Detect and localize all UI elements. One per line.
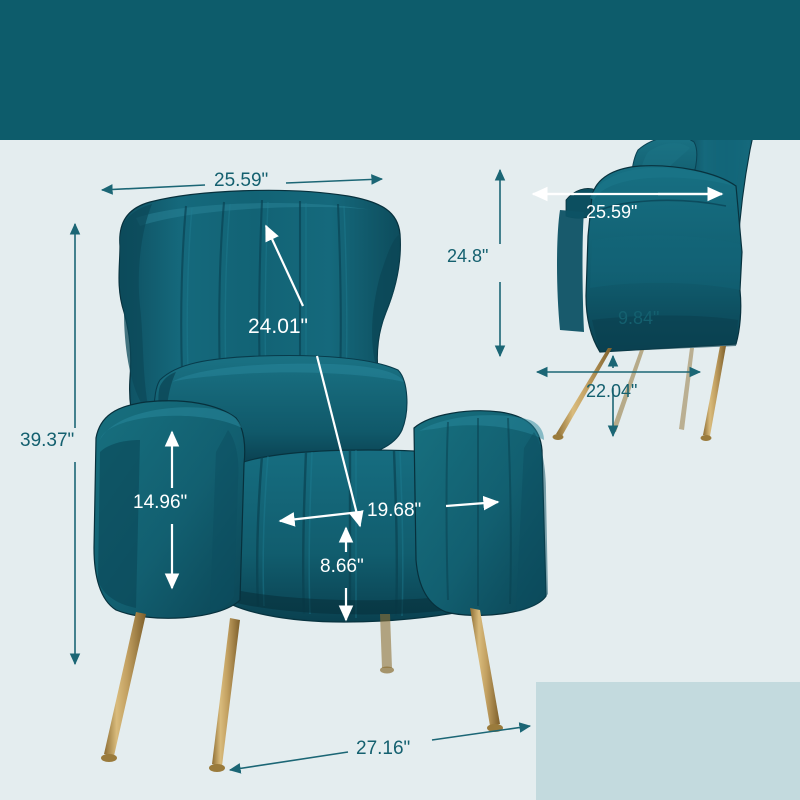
- label-side-base-depth: 22.04": [586, 381, 637, 402]
- infographic-canvas: Product Dimensions Max Weight Capacity: …: [0, 0, 800, 800]
- label-side-seat-depth: 25.59": [586, 202, 637, 223]
- label-front-back-width: 25.59": [214, 170, 268, 192]
- package-size-box: [536, 682, 800, 800]
- label-front-back-height: 24.01": [248, 315, 308, 339]
- label-front-seat-width: 19.68": [367, 500, 421, 522]
- header-band: [0, 0, 800, 140]
- label-front-overall-width: 27.16": [356, 738, 410, 760]
- label-side-back-height: 24.8": [447, 246, 488, 267]
- label-front-seat-depth: 8.66": [320, 556, 364, 578]
- label-side-seat-height: 9.84": [618, 308, 659, 329]
- label-front-arm-height: 14.96": [133, 492, 187, 514]
- label-front-total-height: 39.37": [20, 430, 74, 452]
- front-view-chair-art: [94, 190, 548, 772]
